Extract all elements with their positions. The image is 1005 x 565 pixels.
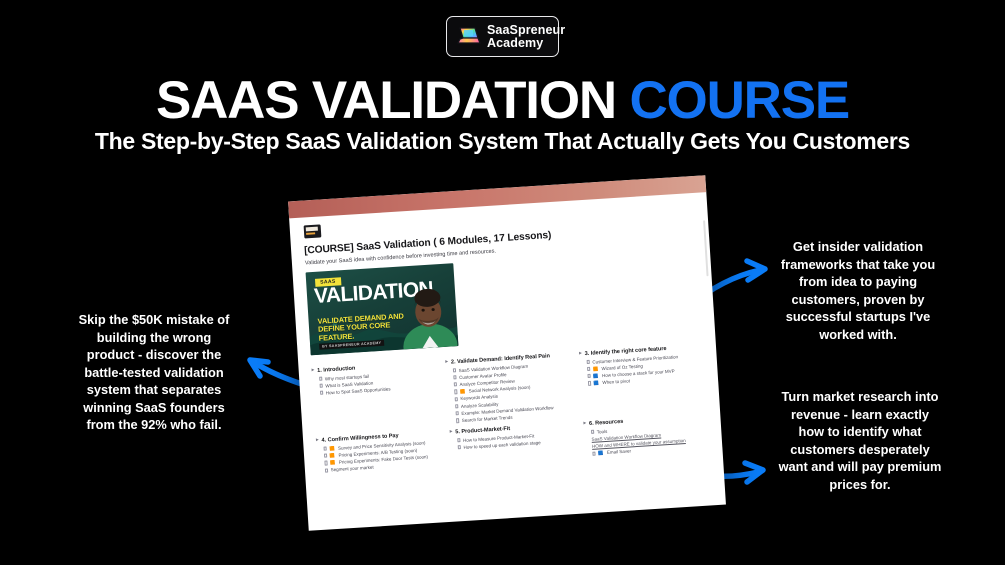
status-badge: 🟧 bbox=[329, 446, 335, 452]
status-badge: 🟦 bbox=[593, 373, 599, 379]
lesson-label: When to pivot bbox=[602, 378, 630, 385]
page-icon bbox=[319, 376, 322, 380]
status-badge: 🟧 bbox=[330, 453, 336, 459]
lesson-label: Email Saver bbox=[607, 449, 632, 456]
lesson-label: Tools bbox=[597, 429, 608, 435]
callout-left: Skip the $50K mistake of building the wr… bbox=[74, 311, 234, 434]
module-title-label: 6. Resources bbox=[589, 419, 624, 427]
module-3: ▸3. Identify the right core featureCusto… bbox=[579, 344, 707, 418]
course-screenshot-card[interactable]: [COURSE] SaaS Validation ( 6 Modules, 17… bbox=[288, 175, 726, 531]
page-icon bbox=[454, 382, 457, 386]
status-badge: 🟦 bbox=[598, 451, 604, 457]
chevron-right-icon[interactable]: ▸ bbox=[579, 351, 582, 357]
chevron-right-icon[interactable]: ▸ bbox=[312, 368, 315, 374]
page-icon bbox=[324, 461, 327, 465]
page-icon bbox=[324, 447, 327, 451]
brand-name: SaaSpreneur Academy bbox=[487, 24, 565, 50]
headline-accent: COURSE bbox=[629, 71, 849, 130]
lesson-label: Search for Market Trends bbox=[462, 415, 513, 424]
callout-top-right: Get insider validation frameworks that t… bbox=[778, 238, 938, 343]
page-icon bbox=[320, 384, 323, 388]
module-grid: ▸1. IntroductionWhy most startups failWh… bbox=[312, 344, 710, 476]
module-4: ▸4. Confirm Willingness to Pay🟧Survey an… bbox=[316, 431, 442, 476]
status-badge: 🟧 bbox=[330, 460, 336, 466]
module-5: ▸5. Product-Market-FitHow to Measure Pro… bbox=[450, 422, 576, 467]
status-badge: 🟧 bbox=[460, 389, 466, 395]
page-icon bbox=[325, 468, 328, 472]
page-icon bbox=[456, 418, 459, 422]
instructor-photo bbox=[396, 274, 458, 349]
callout-bottom-right: Turn market research into revenue - lear… bbox=[778, 388, 942, 493]
module-title-label: 1. Introduction bbox=[317, 366, 355, 374]
page-icon bbox=[320, 391, 323, 395]
lesson-label: Segment your market bbox=[331, 465, 374, 473]
status-badge: 🟦 bbox=[594, 380, 600, 386]
poster-canvas: SaaSpreneur Academy SAAS VALIDATION COUR… bbox=[0, 0, 1005, 565]
page-icon bbox=[458, 445, 461, 449]
module-6: ▸6. ResourcesToolsSaaS Validation Workfl… bbox=[583, 414, 709, 459]
page-icon bbox=[456, 411, 459, 415]
chevron-right-icon[interactable]: ▸ bbox=[450, 430, 453, 436]
page-icon bbox=[457, 438, 460, 442]
status-badge: 🟧 bbox=[593, 366, 599, 372]
page-icon bbox=[588, 381, 591, 385]
page-icon bbox=[592, 451, 595, 455]
headline-main: SAAS VALIDATION bbox=[156, 71, 630, 130]
document-icon bbox=[303, 223, 323, 239]
page-icon bbox=[591, 430, 594, 434]
scrollbar[interactable] bbox=[703, 220, 709, 276]
page-icon bbox=[587, 374, 590, 378]
page-icon bbox=[455, 397, 458, 401]
brand-name-line2: Academy bbox=[487, 37, 565, 50]
chevron-right-icon[interactable]: ▸ bbox=[583, 421, 586, 427]
laptop-icon bbox=[455, 26, 481, 48]
chevron-right-icon[interactable]: ▸ bbox=[316, 438, 319, 444]
page-icon bbox=[454, 390, 457, 394]
page-icon bbox=[587, 360, 590, 364]
page-title: SAAS VALIDATION COURSE bbox=[0, 70, 1005, 131]
page-icon bbox=[587, 367, 590, 371]
module-2: ▸2. Validate Demand: Identify Real PainS… bbox=[445, 352, 573, 426]
page-icon bbox=[455, 404, 458, 408]
page-icon bbox=[453, 368, 456, 372]
course-page-body: [COURSE] SaaS Validation ( 6 Modules, 17… bbox=[289, 192, 723, 486]
page-subtitle: The Step-by-Step SaaS Validation System … bbox=[0, 128, 1005, 155]
course-thumbnail[interactable]: SAAS VALIDATION VALIDATE DEMAND AND DEFI… bbox=[306, 263, 459, 355]
page-icon bbox=[453, 375, 456, 379]
brand-name-line1: SaaSpreneur bbox=[487, 24, 565, 37]
page-icon bbox=[324, 454, 327, 458]
module-1: ▸1. IntroductionWhy most startups failWh… bbox=[312, 361, 440, 435]
chevron-right-icon[interactable]: ▸ bbox=[445, 360, 448, 366]
brand-logo-badge[interactable]: SaaSpreneur Academy bbox=[446, 16, 559, 57]
